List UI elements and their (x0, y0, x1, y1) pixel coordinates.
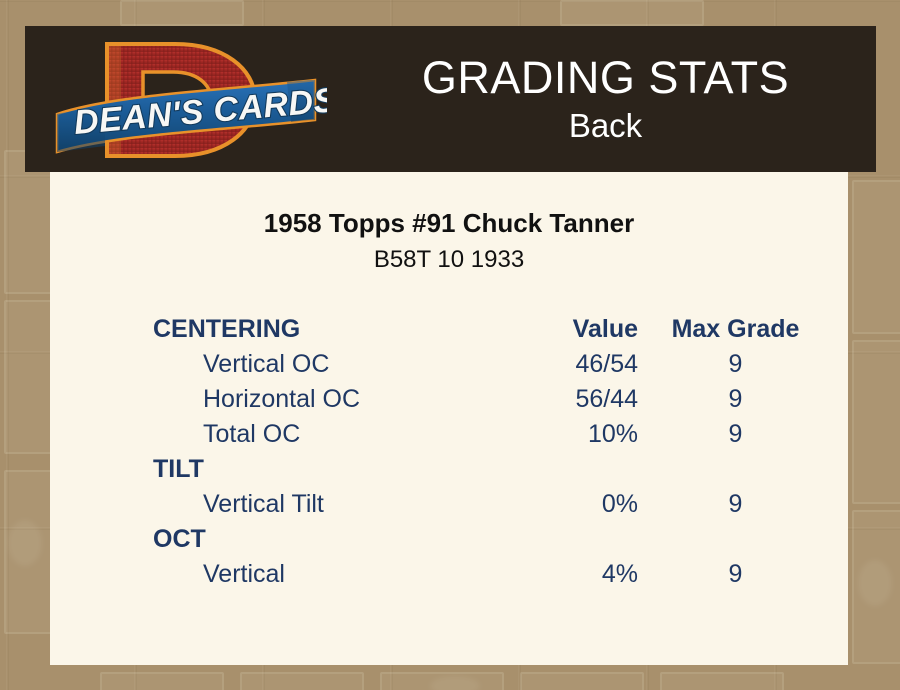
row-label: Vertical OC (153, 347, 329, 382)
header-bar: DEAN'S CARDS GRADING STATS Back (25, 26, 876, 172)
section-label: TILT (153, 452, 204, 487)
page-title: GRADING STATS (422, 52, 789, 104)
row-value: 10% (458, 417, 638, 452)
header-title-group: GRADING STATS Back (335, 26, 876, 172)
row-max-grade: 9 (658, 417, 813, 452)
row-max-grade: 9 (658, 347, 813, 382)
row-label: Vertical Tilt (153, 487, 324, 522)
table-row: Horizontal OC 56/44 9 (153, 382, 813, 417)
section-header-row: TILT (153, 452, 813, 487)
row-label: Total OC (153, 417, 300, 452)
row-value: 56/44 (458, 382, 638, 417)
table-header-row: CENTERING Value Max Grade (153, 312, 813, 347)
column-header-category: CENTERING (153, 312, 300, 347)
card-title: 1958 Topps #91 Chuck Tanner (50, 208, 848, 239)
card-subtitle: B58T 10 1933 (50, 246, 848, 274)
grading-stats-table: CENTERING Value Max Grade Vertical OC 46… (153, 312, 813, 592)
row-max-grade: 9 (658, 557, 813, 592)
table-row: Vertical OC 46/54 9 (153, 347, 813, 382)
row-label: Horizontal OC (153, 382, 360, 417)
table-row: Vertical 4% 9 (153, 557, 813, 592)
row-label: Vertical (153, 557, 285, 592)
column-header-max-grade: Max Grade (658, 312, 813, 347)
row-value: 46/54 (458, 347, 638, 382)
row-value: 0% (458, 487, 638, 522)
row-value: 4% (458, 557, 638, 592)
row-max-grade: 9 (658, 487, 813, 522)
logo-svg: DEAN'S CARDS (47, 28, 327, 172)
page-root: DEAN'S CARDS GRADING STATS Back 1958 Top… (0, 0, 900, 690)
row-max-grade: 9 (658, 382, 813, 417)
content-panel: 1958 Topps #91 Chuck Tanner B58T 10 1933… (50, 172, 848, 665)
column-header-value: Value (458, 312, 638, 347)
section-label: OCT (153, 522, 206, 557)
table-row: Total OC 10% 9 (153, 417, 813, 452)
page-subtitle: Back (569, 106, 642, 146)
section-header-row: OCT (153, 522, 813, 557)
deans-cards-logo[interactable]: DEAN'S CARDS (47, 28, 327, 172)
table-row: Vertical Tilt 0% 9 (153, 487, 813, 522)
